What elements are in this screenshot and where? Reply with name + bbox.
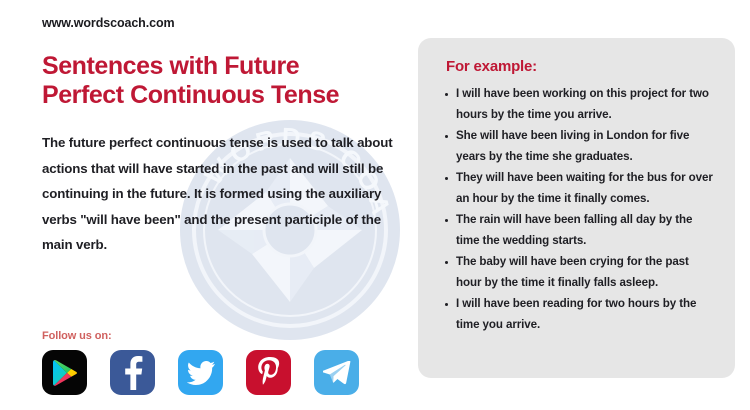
follow-us-label: Follow us on: <box>42 330 359 342</box>
examples-list: I will have been working on this project… <box>444 84 717 335</box>
list-item: The rain will have been falling all day … <box>444 210 717 251</box>
list-item: I will have been working on this project… <box>444 84 717 125</box>
list-item: I will have been reading for two hours b… <box>444 294 717 335</box>
left-content-column: www.wordscoach.com Sentences with Future… <box>42 16 412 258</box>
google-play-icon[interactable] <box>42 350 87 395</box>
page-title: Sentences with Future Perfect Continuous… <box>42 52 372 110</box>
list-item: The baby will have been crying for the p… <box>444 252 717 293</box>
pinterest-icon[interactable] <box>246 350 291 395</box>
examples-panel: For example: I will have been working on… <box>418 38 735 378</box>
twitter-icon[interactable] <box>178 350 223 395</box>
site-url: www.wordscoach.com <box>42 16 412 30</box>
examples-heading: For example: <box>446 58 717 75</box>
intro-paragraph: The future perfect continuous tense is u… <box>42 130 410 258</box>
list-item: They will have been waiting for the bus … <box>444 168 717 209</box>
follow-us-block: Follow us on: <box>42 330 359 395</box>
list-item: She will have been living in London for … <box>444 126 717 167</box>
infographic-page: WORDS COA www.wordscoach.com Sentences w… <box>0 0 750 410</box>
telegram-icon[interactable] <box>314 350 359 395</box>
social-icon-row <box>42 350 359 395</box>
facebook-icon[interactable] <box>110 350 155 395</box>
